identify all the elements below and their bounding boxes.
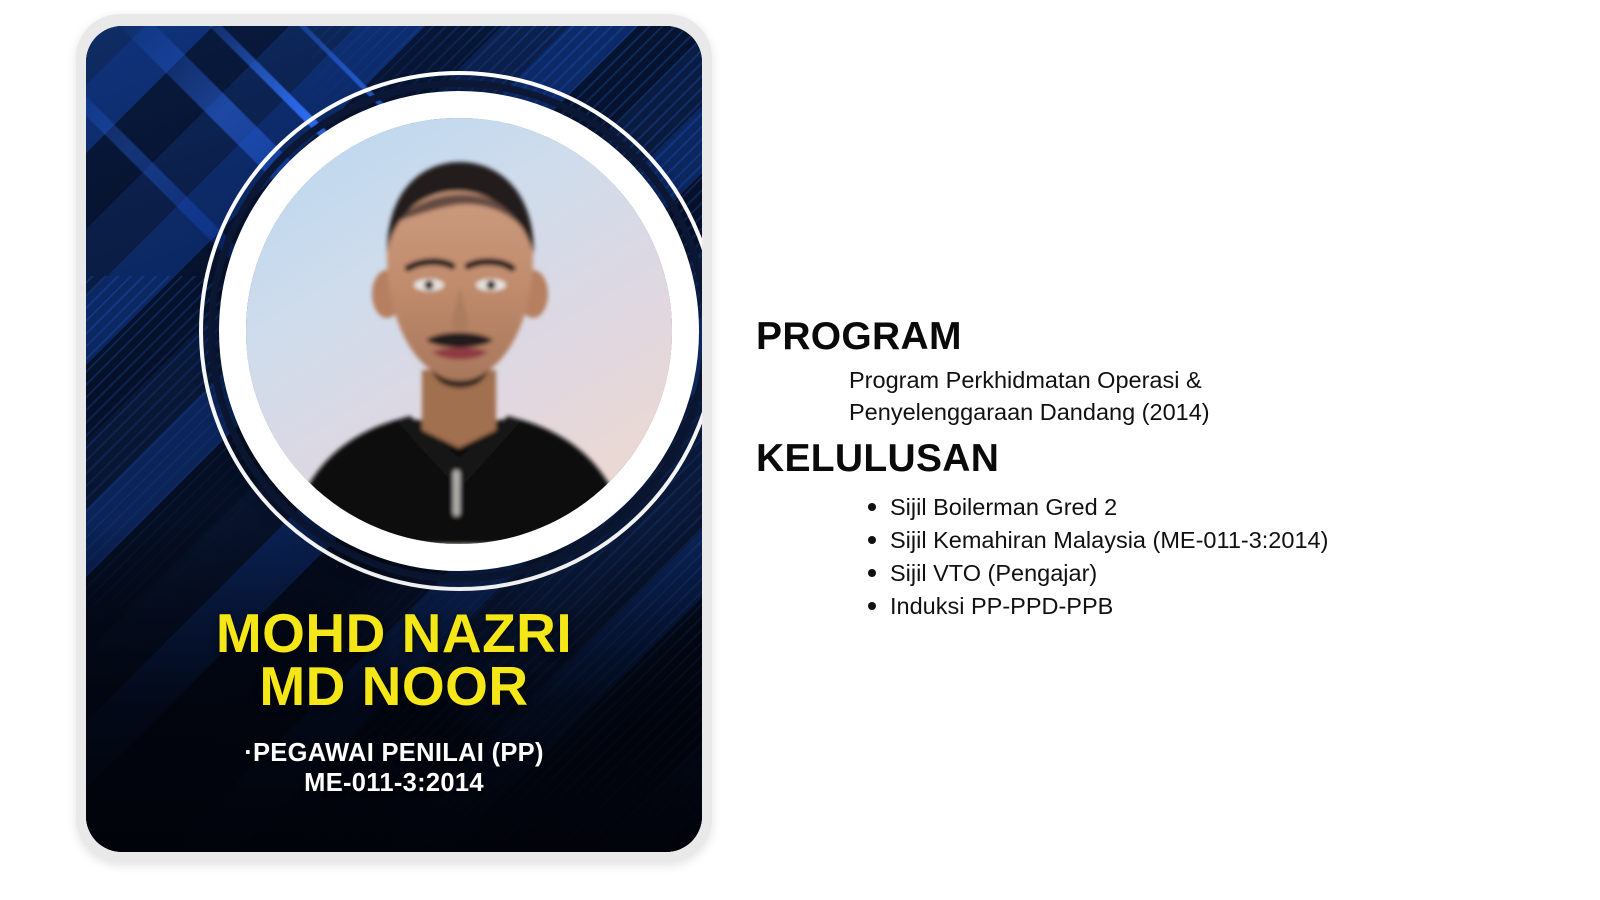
list-item-label: Induksi PP-PPD-PPB [890, 593, 1113, 619]
slide-canvas: MOHD NAZRI MD NOOR ·PEGAWAI PENILAI (PP)… [0, 0, 1600, 900]
person-role-line2: ME-011-3:2014 [108, 768, 680, 798]
list-item: Sijil VTO (Pengajar) [868, 557, 1456, 590]
program-heading: PROGRAM [756, 316, 1456, 358]
person-role-line1: ·PEGAWAI PENILAI (PP) [108, 738, 680, 768]
card-text-block: MOHD NAZRI MD NOOR ·PEGAWAI PENILAI (PP)… [86, 607, 702, 798]
list-item: Induksi PP-PPD-PPB [868, 590, 1456, 623]
kelulusan-heading: KELULUSAN [756, 438, 1456, 480]
list-item: Sijil Kemahiran Malaysia (ME-011-3:2014) [868, 524, 1456, 557]
profile-card: MOHD NAZRI MD NOOR ·PEGAWAI PENILAI (PP)… [86, 26, 702, 852]
portrait-photo [246, 118, 672, 544]
person-name-line2: MD NOOR [108, 660, 680, 712]
list-item-label: Sijil VTO (Pengajar) [890, 560, 1097, 586]
bullet-icon [868, 602, 876, 610]
list-item-label: Sijil Kemahiran Malaysia (ME-011-3:2014) [890, 527, 1328, 553]
program-description-line1: Program Perkhidmatan Operasi & [849, 364, 1456, 396]
list-item: Sijil Boilerman Gred 2 [868, 491, 1456, 524]
bullet-icon [868, 569, 876, 577]
person-name-line1: MOHD NAZRI [108, 607, 680, 659]
info-panel: PROGRAM Program Perkhidmatan Operasi & P… [756, 316, 1456, 623]
program-description-line2: Penyelenggaraan Dandang (2014) [849, 396, 1456, 428]
program-description: Program Perkhidmatan Operasi & Penyeleng… [849, 364, 1456, 428]
portrait-illustration [246, 118, 672, 544]
kelulusan-list: Sijil Boilerman Gred 2 Sijil Kemahiran M… [868, 491, 1456, 624]
bullet-icon [868, 503, 876, 511]
list-item-label: Sijil Boilerman Gred 2 [890, 494, 1117, 520]
profile-card-frame: MOHD NAZRI MD NOOR ·PEGAWAI PENILAI (PP)… [76, 14, 712, 862]
bullet-icon [868, 536, 876, 544]
